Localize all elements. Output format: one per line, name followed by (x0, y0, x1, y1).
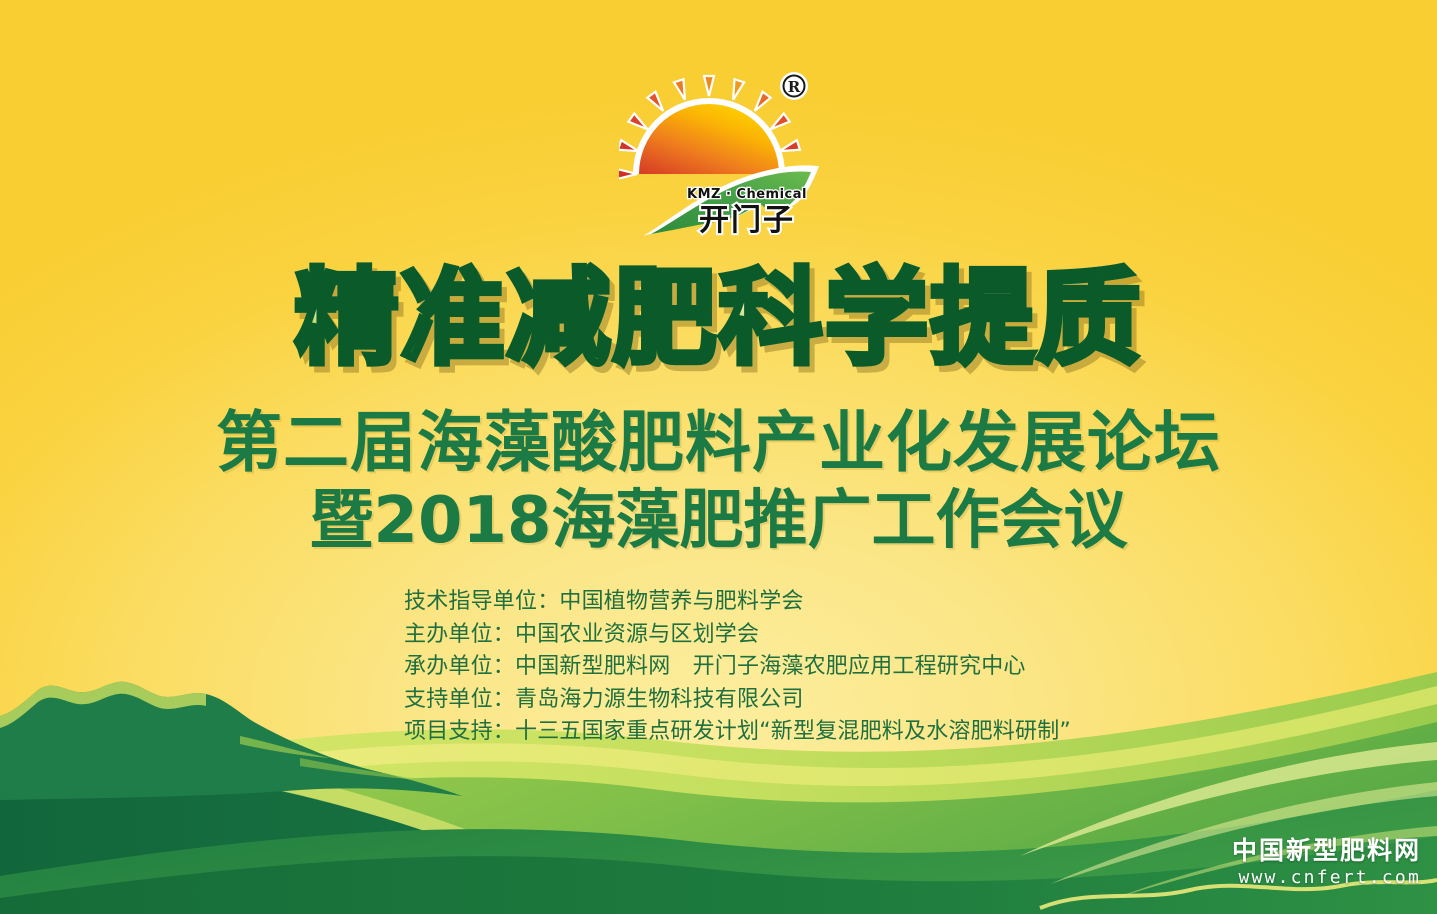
watermark-url: www.cnfert.com (1232, 866, 1421, 890)
event-poster: R KMZ · Chemical 开门子 精准减肥科学提质 第二届海藻酸肥料产业… (0, 0, 1437, 914)
headline-part-1: 精准减肥 (294, 266, 718, 370)
info-line-supporter: 支持单位：青岛海力源生物科技有限公司 (404, 684, 1071, 717)
sun-icon (633, 98, 785, 174)
kmz-chemical-logo-mark: R KMZ · Chemical 开门子 (619, 62, 819, 240)
subtitle-line-1: 第二届海藻酸肥料产业化发展论坛 (0, 404, 1437, 482)
headline-block: 精准减肥科学提质 (0, 266, 1437, 370)
info-line-technical-guidance: 技术指导单位：中国植物营养与肥料学会 (404, 586, 1071, 619)
logo-latin-text: KMZ · Chemical (687, 187, 807, 202)
brand-logo: R KMZ · Chemical 开门子 (0, 62, 1437, 240)
info-line-organizer: 承办单位：中国新型肥料网 开门子海藻农肥应用工程研究中心 (404, 651, 1071, 684)
registered-trademark-icon: R (780, 72, 808, 100)
logo-chinese-text: 开门子 (699, 203, 795, 238)
watermark-site-name: 中国新型肥料网 (1232, 836, 1421, 866)
subtitle-line-2: 暨2018海藻肥推广工作会议 (0, 482, 1437, 560)
subtitle-block: 第二届海藻酸肥料产业化发展论坛 暨2018海藻肥推广工作会议 (0, 404, 1437, 560)
headline-part-2: 科学提质 (719, 266, 1143, 370)
organizer-info-block: 技术指导单位：中国植物营养与肥料学会 主办单位：中国农业资源与区划学会 承办单位… (404, 586, 1071, 749)
site-watermark: 中国新型肥料网 www.cnfert.com (1232, 836, 1421, 890)
info-line-host: 主办单位：中国农业资源与区划学会 (404, 619, 1071, 652)
info-line-project-support: 项目支持：十三五国家重点研发计划“新型复混肥料及水溶肥料研制” (404, 716, 1071, 749)
svg-text:R: R (787, 78, 800, 96)
